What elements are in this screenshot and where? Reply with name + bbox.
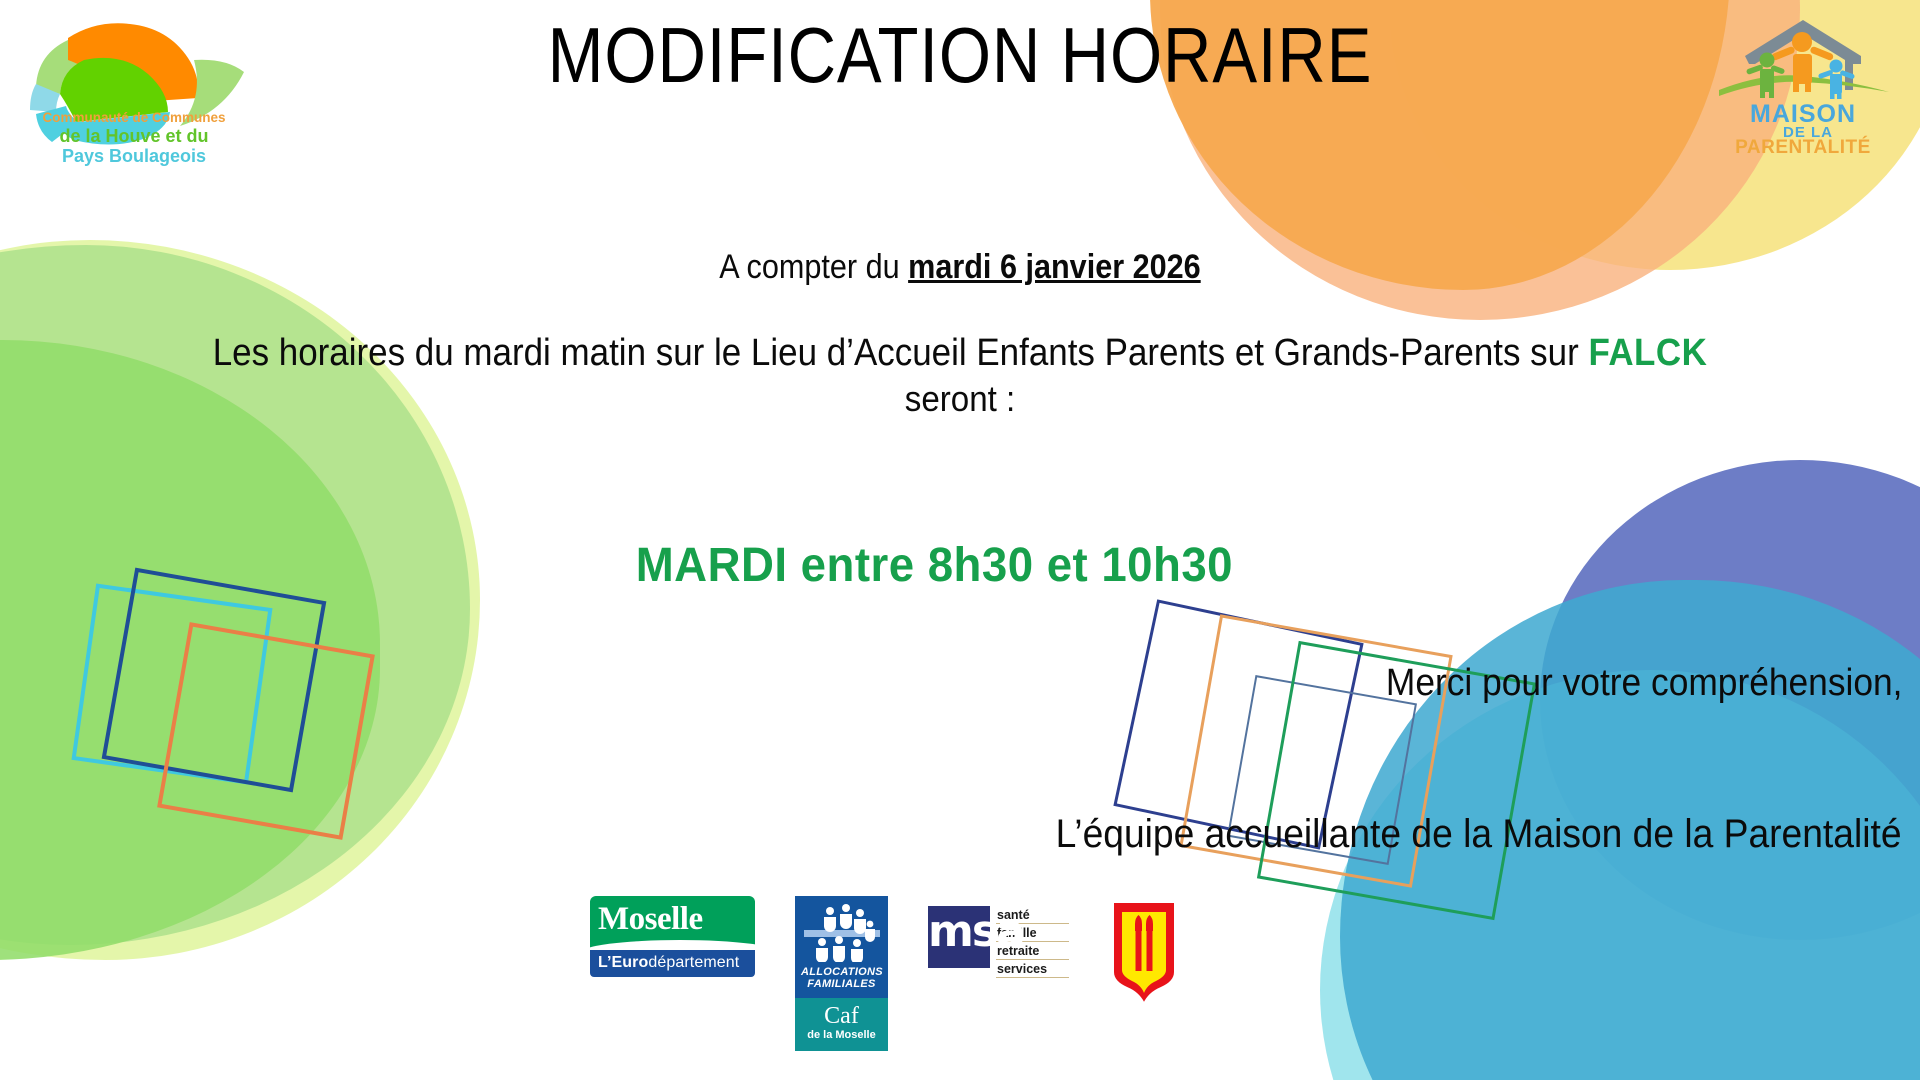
moselle-tagline-rest: département <box>648 954 739 971</box>
caf-line1: ALLOCATIONS <box>801 966 882 978</box>
schedule-description-line-2: seront : <box>77 378 1843 420</box>
signature-line: L’équipe accueillante de la Maison de la… <box>1056 812 1902 857</box>
moselle-logo-mark: Moselle <box>590 896 755 950</box>
logo-moselle-eurodepartement: Moselle L’Eurodépartement <box>590 896 755 977</box>
logo-caf-de-la-moselle: ALLOCATIONS FAMILIALES Caf de la Moselle <box>795 896 888 1051</box>
partner-logos-row: Moselle L’Eurodépartement <box>590 896 1290 1066</box>
maison-line3: PARENTALITÉ <box>1735 136 1871 154</box>
caf-logo-top: ALLOCATIONS FAMILIALES <box>795 896 888 998</box>
cchpb-line3: Pays Boulageois <box>62 146 206 166</box>
caf-logo-bottom: Caf de la Moselle <box>795 998 888 1051</box>
moselle-tagline: L’Eurodépartement <box>590 950 755 977</box>
msa-service-item: services <box>996 960 1069 978</box>
schedule-description-line: Les horaires du mardi matin sur le Lieu … <box>77 332 1843 375</box>
logo-blason-lorraine <box>1109 896 1179 1013</box>
location-name: FALCK <box>1588 332 1707 374</box>
new-hours-highlight: MARDI entre 8h30 et 10h30 <box>636 538 1233 593</box>
effective-date-value: mardi 6 janvier 2026 <box>908 248 1201 286</box>
cchpb-line2: de la Houve et du <box>59 126 208 146</box>
shield-icon <box>1109 898 1179 1008</box>
msa-mark-text: msa <box>928 912 990 952</box>
moselle-tagline-bold: L’Euro <box>598 954 648 971</box>
page-title: MODIFICATION HORAIRE <box>134 12 1785 98</box>
caf-subtitle: de la Moselle <box>799 1029 884 1042</box>
effective-date-prefix: A compter du <box>719 248 908 286</box>
caf-word: Caf <box>799 1003 884 1029</box>
moselle-name: Moselle <box>598 902 747 936</box>
schedule-description-text: Les horaires du mardi matin sur le Lieu … <box>213 332 1589 374</box>
logo-msa: msa santé famille retraite services <box>928 896 1069 978</box>
effective-date-line: A compter du mardi 6 janvier 2026 <box>96 248 1824 287</box>
closing-line: Merci pour votre compréhension, <box>1385 662 1902 705</box>
poster-canvas: Communauté de Communes de la Houve et du… <box>0 0 1920 1080</box>
caf-line2: FAMILIALES <box>801 978 882 990</box>
cchpb-line1: Communauté de Communes <box>42 110 225 125</box>
moselle-swoosh-icon <box>590 940 755 950</box>
caf-people-icon <box>801 904 882 962</box>
msa-logo-mark: msa <box>928 906 990 968</box>
